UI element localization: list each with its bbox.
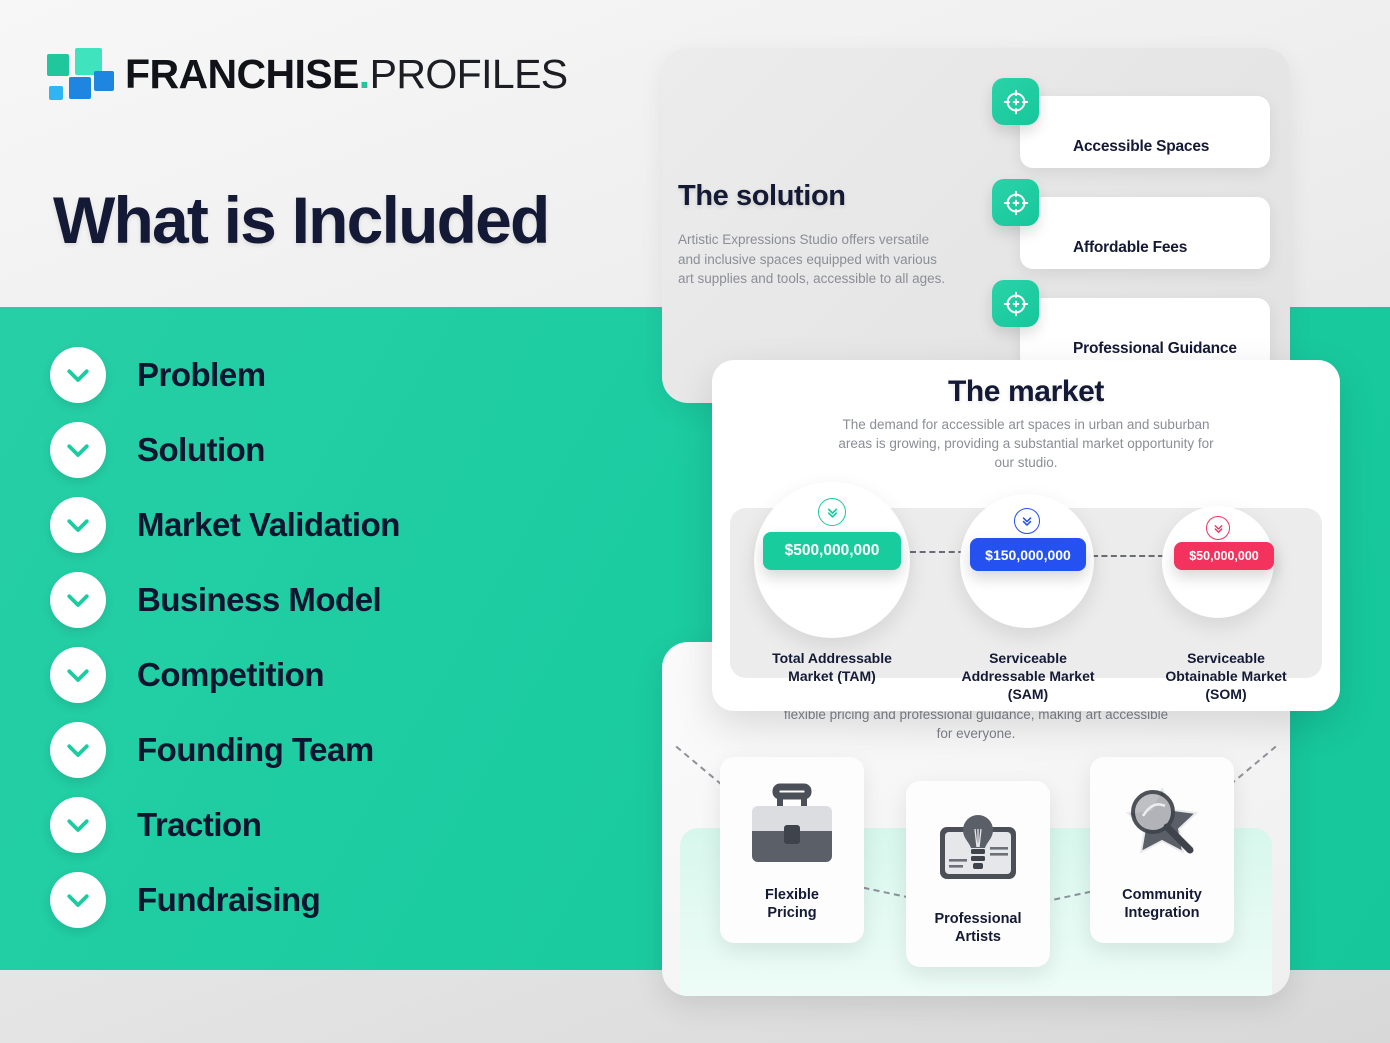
funnel-tier-label: Total AddressableMarket (TAM) xyxy=(742,650,922,686)
funnel-tier-label: ServiceableObtainable Market(SOM) xyxy=(1140,650,1312,704)
solution-panel: The solution Artistic Expressions Studio… xyxy=(662,48,1290,403)
included-items-list: Problem Solution Market Validation Busin… xyxy=(50,347,650,947)
market-subtitle: The demand for accessible art spaces in … xyxy=(836,415,1216,472)
chevron-down-icon xyxy=(50,347,106,403)
brand-name-dot: . xyxy=(359,51,370,97)
list-item[interactable]: Competition xyxy=(50,647,650,703)
funnel-value-badge: $50,000,000 xyxy=(1174,542,1274,570)
target-crosshair-icon xyxy=(992,179,1039,226)
solution-feature-label: Accessible Spaces xyxy=(1073,138,1209,156)
list-item-label: Traction xyxy=(137,806,261,844)
list-item[interactable]: Traction xyxy=(50,797,650,853)
list-item-label: Business Model xyxy=(137,581,381,619)
solution-feature-label: Affordable Fees xyxy=(1073,239,1187,257)
bottom-card[interactable]: FlexiblePricing xyxy=(720,757,864,943)
funnel-tier-label: ServiceableAddressable Market(SAM) xyxy=(940,650,1116,704)
list-item[interactable]: Fundraising xyxy=(50,872,650,928)
double-chevron-down-icon xyxy=(818,498,846,526)
squares-logo-icon xyxy=(47,48,107,100)
funnel-value-badge: $500,000,000 xyxy=(763,532,901,570)
target-crosshair-icon xyxy=(992,78,1039,125)
solution-feature-list: Accessible Spaces Affordable Fees xyxy=(662,48,1290,403)
bottom-card-label: FlexiblePricing xyxy=(765,886,819,922)
award-magnifier-icon xyxy=(1116,783,1208,874)
list-item-label: Market Validation xyxy=(137,506,400,544)
chevron-down-icon xyxy=(50,722,106,778)
chevron-down-icon xyxy=(50,422,106,478)
brand-name-light: PROFILES xyxy=(370,51,568,97)
list-item[interactable]: Solution xyxy=(50,422,650,478)
brand-name-bold: FRANCHISE xyxy=(125,51,359,97)
double-chevron-down-icon xyxy=(1014,508,1040,534)
list-item[interactable]: Founding Team xyxy=(50,722,650,778)
solution-feature-label: Professional Guidance xyxy=(1073,340,1237,358)
target-crosshair-icon xyxy=(992,280,1039,327)
list-item-label: Solution xyxy=(137,431,265,469)
list-item-label: Competition xyxy=(137,656,324,694)
solution-feature-card[interactable]: Accessible Spaces xyxy=(1020,96,1270,168)
funnel-value-badge: $150,000,000 xyxy=(970,538,1086,571)
chevron-down-icon xyxy=(50,647,106,703)
bottom-card-label: CommunityIntegration xyxy=(1122,886,1202,922)
market-panel: The market The demand for accessible art… xyxy=(712,360,1340,711)
list-item[interactable]: Problem xyxy=(50,347,650,403)
slide-canvas: FRANCHISE.PROFILES What is Included Prob… xyxy=(0,0,1390,1043)
bottom-card[interactable]: CommunityIntegration xyxy=(1090,757,1234,943)
chevron-down-icon xyxy=(50,797,106,853)
brand-logo[interactable]: FRANCHISE.PROFILES xyxy=(47,48,568,100)
list-item[interactable]: Market Validation xyxy=(50,497,650,553)
list-item-label: Problem xyxy=(137,356,266,394)
lightbulb-board-icon xyxy=(932,807,1024,898)
list-item-label: Founding Team xyxy=(137,731,374,769)
page-title: What is Included xyxy=(53,186,549,255)
market-title: The market xyxy=(712,375,1340,409)
briefcase-icon xyxy=(746,783,838,874)
bottom-card[interactable]: ProfessionalArtists xyxy=(906,781,1050,967)
chevron-down-icon xyxy=(50,872,106,928)
brand-wordmark: FRANCHISE.PROFILES xyxy=(125,54,568,95)
list-item[interactable]: Business Model xyxy=(50,572,650,628)
chevron-down-icon xyxy=(50,497,106,553)
list-item-label: Fundraising xyxy=(137,881,320,919)
solution-feature-card[interactable]: Affordable Fees xyxy=(1020,197,1270,269)
bottom-card-label: ProfessionalArtists xyxy=(934,910,1021,946)
chevron-down-icon xyxy=(50,572,106,628)
funnel-connector-2 xyxy=(1092,555,1164,557)
market-funnel-chart: $500,000,000 Total AddressableMarket (TA… xyxy=(712,472,1340,711)
double-chevron-down-icon xyxy=(1206,516,1230,540)
